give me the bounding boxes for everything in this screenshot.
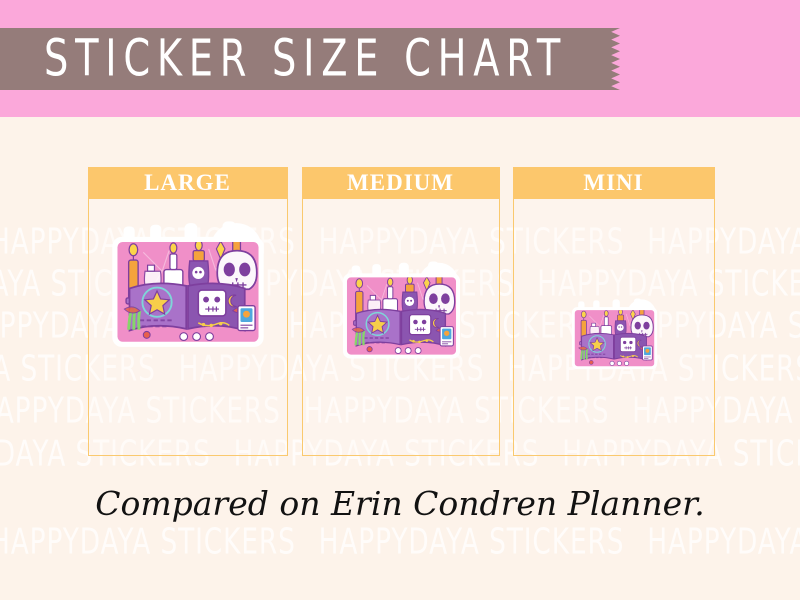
caption-text: Compared on Erin Condren Planner. (0, 484, 800, 523)
witchy-spellbook-sticker (566, 298, 663, 375)
witchy-spellbook-sticker (102, 220, 274, 357)
page-title: STICKER SIZE CHART (44, 19, 567, 98)
title-banner-torn-edge (598, 28, 620, 90)
witchy-spellbook-sticker (335, 260, 468, 366)
size-column-mini[interactable]: MINI (513, 167, 715, 456)
sticker-preview-large (89, 220, 287, 357)
sticker-preview-medium (303, 260, 499, 366)
sticker-preview-mini (514, 298, 714, 375)
size-column-large[interactable]: LARGE (88, 167, 288, 456)
size-column-header-large: LARGE (88, 167, 288, 199)
size-column-header-medium: MEDIUM (302, 167, 500, 199)
size-comparison-area: LARGE (0, 117, 800, 600)
size-column-medium[interactable]: MEDIUM (302, 167, 500, 456)
size-column-header-mini: MINI (513, 167, 715, 199)
header-band: STICKER SIZE CHART (0, 0, 800, 117)
